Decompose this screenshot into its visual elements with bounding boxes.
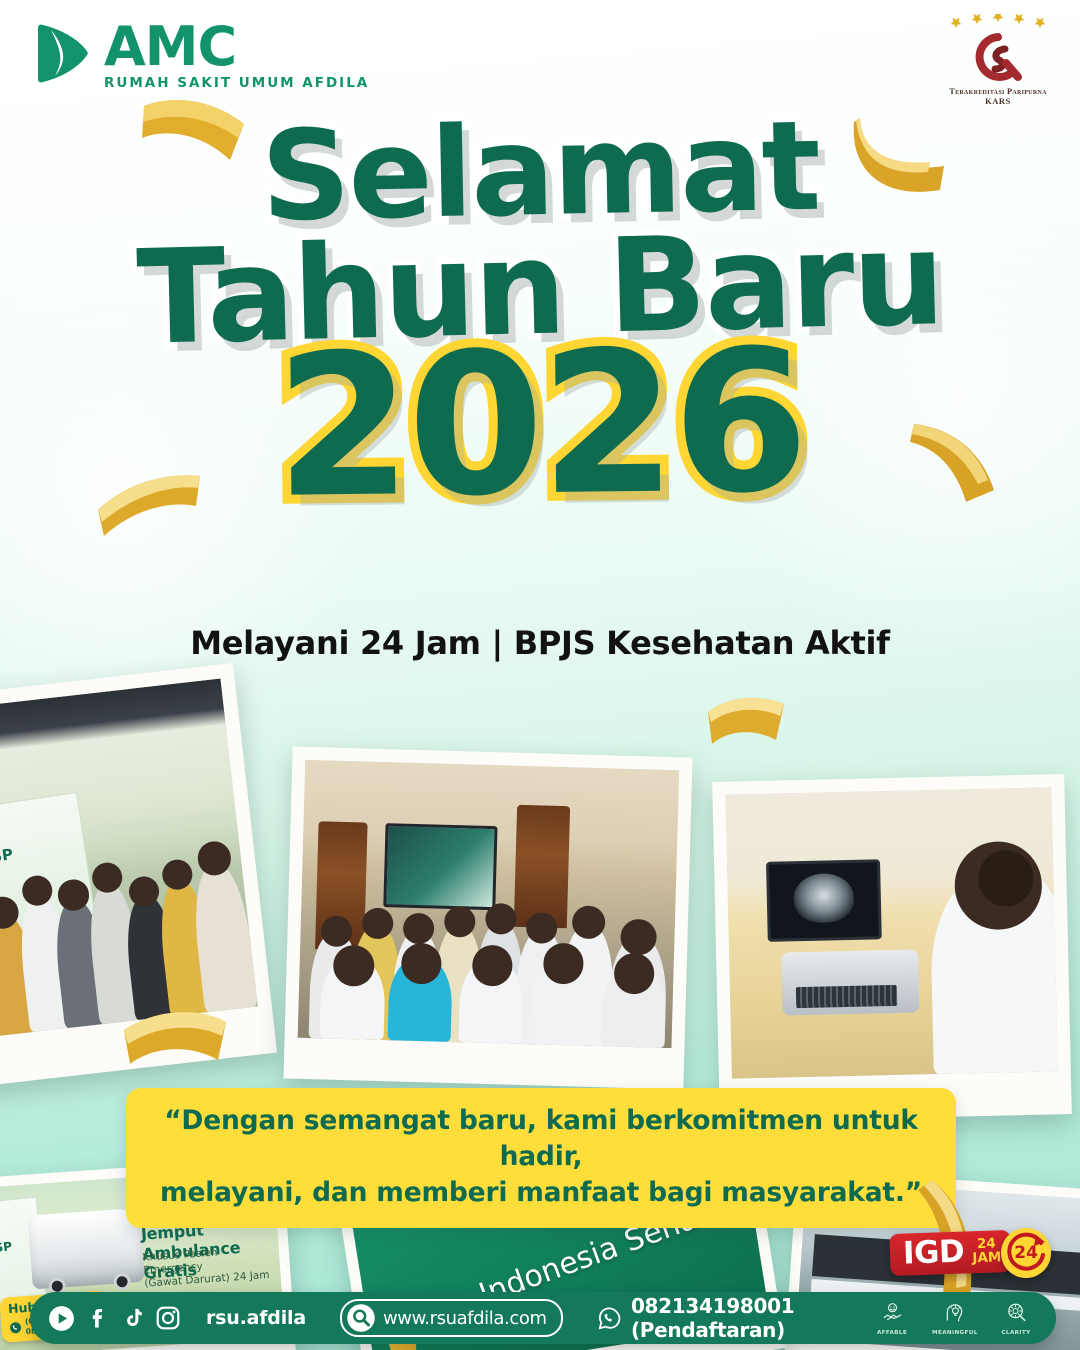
hero-heading: Selamat Tahun Baru 2026 — [0, 110, 1080, 521]
whatsapp-icon — [597, 1302, 621, 1335]
kars-line-1: Terakreditasi Paripurna — [938, 86, 1058, 97]
photo-frame — [725, 787, 1057, 1078]
igd-label: IGD — [902, 1237, 964, 1270]
confetti-ribbon-icon — [706, 694, 786, 758]
youtube-icon[interactable] — [48, 1305, 75, 1332]
magnifier-icon — [346, 1303, 376, 1333]
ambulance-subtitle: Khusus Pasien Emergency (Gawat Darurat) … — [142, 1242, 281, 1291]
igd-24-hour-badge: IGD 24JAM 24 — [890, 1228, 1051, 1278]
kars-accreditation-badge: Terakreditasi Paripurna KARS — [938, 14, 1058, 106]
photo-people — [298, 854, 677, 1048]
value-label: CLARITY — [994, 1330, 1038, 1336]
photo-people — [0, 816, 258, 1039]
hero-year: 2026 — [0, 323, 1080, 526]
kars-q-icon — [966, 33, 1030, 81]
poster-header: AMC RUMAH SAKIT UMUM AFDILA Terakreditas — [0, 0, 1080, 120]
hero-tagline: Melayani 24 Jam | BPJS Kesehatan Aktif — [0, 624, 1080, 662]
hospital-logo: AMC RUMAH SAKIT UMUM AFDILA — [34, 22, 369, 91]
tiktok-icon[interactable] — [121, 1305, 144, 1331]
hospital-values: AFFABLE MEANINGFUL CLARITY — [870, 1301, 1038, 1336]
phone-icon — [9, 1321, 22, 1334]
quote-line-2: melayani, dan memberi manfaat bagi masya… — [152, 1175, 930, 1211]
photo-ultrasound-exam — [712, 774, 1072, 1122]
photo-staff-speling: ANAN SP — [0, 663, 277, 1089]
ambulance-banner-text: ANAN SP — [0, 1239, 13, 1259]
kars-line-2: KARS — [938, 97, 1058, 106]
igd-hours: 24JAM — [972, 1237, 1002, 1266]
igd-plate: IGD 24JAM — [889, 1230, 1012, 1276]
logo-wordmark: AMC — [104, 22, 369, 72]
photo-scene — [725, 787, 1057, 1078]
value-clarity: CLARITY — [994, 1301, 1038, 1336]
whatsapp-contact[interactable]: 082134198001 (Pendaftaran) — [597, 1294, 870, 1342]
clarity-magnifier-icon — [1005, 1301, 1028, 1324]
photo-scene — [298, 760, 680, 1048]
clock-arrow-icon — [1004, 1231, 1048, 1275]
value-label: AFFABLE — [870, 1330, 914, 1336]
value-affable: AFFABLE — [870, 1301, 914, 1336]
website-pill[interactable]: www.rsuafdila.com — [340, 1299, 563, 1337]
photo-doctors-group — [283, 746, 692, 1089]
commitment-quote-banner: “Dengan semangat baru, kami berkomitmen … — [126, 1088, 956, 1228]
photo-frame: ANAN SP — [0, 679, 258, 1040]
meaningful-lightbulb-head-icon — [943, 1301, 966, 1324]
kars-stars-icon — [938, 14, 1058, 30]
contact-footer-bar: rsu.afdila www.rsuafdila.com 08213419800… — [30, 1292, 1056, 1344]
amc-leaf-icon — [34, 22, 92, 84]
igd-clock-icon: 24 — [1001, 1228, 1051, 1278]
website-url: www.rsuafdila.com — [383, 1308, 547, 1329]
value-meaningful: MEANINGFUL — [932, 1301, 976, 1336]
instagram-icon[interactable] — [155, 1305, 181, 1331]
registration-phone: 082134198001 (Pendaftaran) — [631, 1294, 870, 1342]
social-links: rsu.afdila — [48, 1305, 306, 1332]
value-label: MEANINGFUL — [932, 1330, 976, 1336]
quote-line-1: “Dengan semangat baru, kami berkomitmen … — [152, 1103, 930, 1175]
affable-handshake-icon — [881, 1301, 904, 1324]
facebook-icon[interactable] — [86, 1305, 110, 1331]
new-year-greeting-poster: AMC RUMAH SAKIT UMUM AFDILA Terakreditas — [0, 0, 1080, 1350]
photo-scene: ANAN SP — [0, 679, 258, 1040]
social-handle: rsu.afdila — [206, 1307, 306, 1329]
photo-frame — [298, 760, 680, 1048]
logo-tagline: RUMAH SAKIT UMUM AFDILA — [104, 75, 369, 91]
